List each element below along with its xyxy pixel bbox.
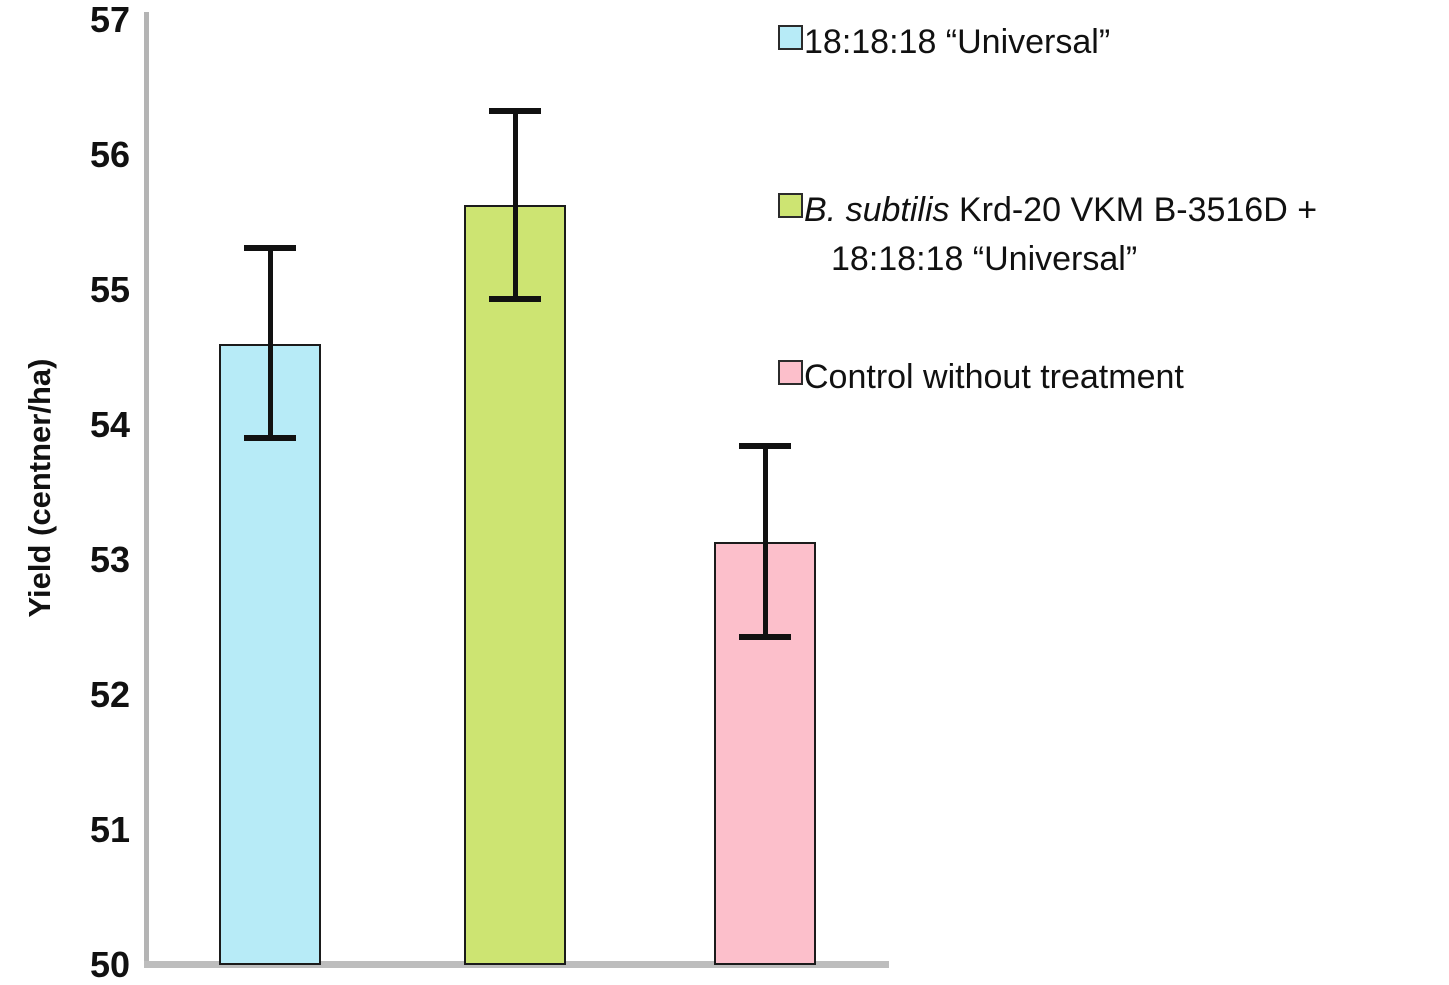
legend-entry-label: B. subtilis Krd-20 VKM B-3516D +18:18:18… <box>804 186 1317 284</box>
error-bar-cap-upper <box>489 108 541 114</box>
chart-figure: Yield (centner/ha) 5756555453525150 18:1… <box>0 0 1449 985</box>
y-axis-tick-label: 55 <box>30 272 130 308</box>
error-bar-1 <box>240 245 300 441</box>
plot-area <box>149 12 889 965</box>
legend-color-swatch <box>778 193 803 218</box>
legend-entry-label: 18:18:18 “Universal” <box>804 18 1110 67</box>
legend-color-swatch <box>778 25 803 50</box>
error-bar-stem <box>513 108 518 302</box>
y-axis-tick-label: 52 <box>30 677 130 713</box>
error-bar-cap-lower <box>244 435 296 441</box>
legend-entry-1[interactable]: 18:18:18 “Universal” <box>778 18 1110 67</box>
y-axis-tick-label: 54 <box>30 407 130 443</box>
error-bar-cap-lower <box>739 634 791 640</box>
error-bar-stem <box>763 443 768 640</box>
error-bar-3 <box>735 443 795 640</box>
error-bar-2 <box>485 108 545 302</box>
y-axis-tick-labels: 5756555453525150 <box>30 0 130 985</box>
y-axis-tick-label: 57 <box>30 2 130 38</box>
error-bar-cap-upper <box>244 245 296 251</box>
bar-2 <box>464 205 566 965</box>
y-axis-tick-label: 53 <box>30 542 130 578</box>
legend-color-swatch <box>778 360 803 385</box>
error-bar-cap-lower <box>489 296 541 302</box>
legend-entry-2[interactable]: B. subtilis Krd-20 VKM B-3516D +18:18:18… <box>778 186 1317 284</box>
y-axis-tick-label: 56 <box>30 137 130 173</box>
y-axis-tick-label: 51 <box>30 812 130 848</box>
legend-entry-label-line2: 18:18:18 “Universal” <box>804 235 1317 284</box>
error-bar-cap-upper <box>739 443 791 449</box>
species-name: B. subtilis <box>804 191 950 229</box>
legend-entry-3[interactable]: Control without treatment <box>778 353 1184 402</box>
error-bar-stem <box>268 245 273 441</box>
y-axis-tick-label: 50 <box>30 947 130 983</box>
legend-entry-label: Control without treatment <box>804 353 1184 402</box>
